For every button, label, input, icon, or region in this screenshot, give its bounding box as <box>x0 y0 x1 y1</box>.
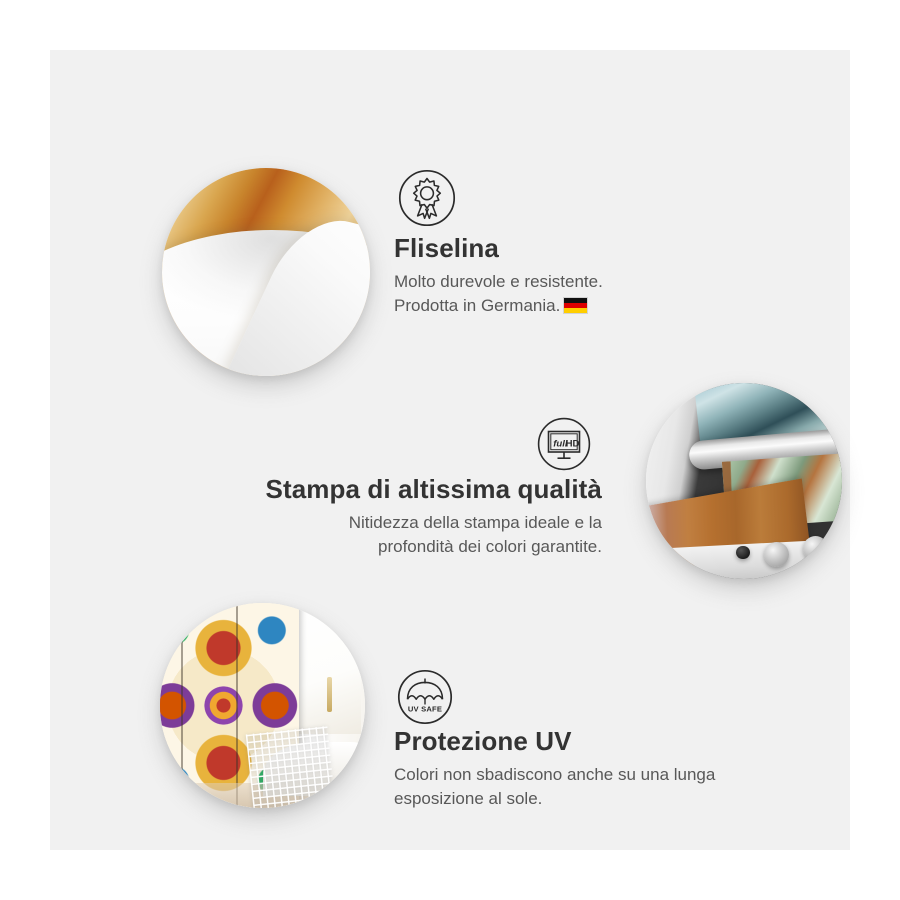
content-panel: Fliselina Molto durevole e resistente. P… <box>50 50 850 850</box>
printer-photo-inner <box>646 383 842 579</box>
large-format-printer-photo <box>646 383 842 579</box>
room-photo-inner <box>160 603 365 808</box>
feature-title-print-quality: Stampa di altissima qualità <box>260 474 602 505</box>
feature-title-fliselina: Fliselina <box>394 233 814 264</box>
printer-knob-large <box>764 542 789 567</box>
full-hd-label-regular: HD <box>566 438 580 449</box>
feature-block-fliselina: Fliselina Molto durevole e resistente. P… <box>394 233 814 319</box>
full-hd-monitor-icon: full HD <box>537 417 591 471</box>
uv-safe-umbrella-icon: UV SAFE <box>397 669 453 725</box>
peeling-wallpaper-roll-photo <box>162 168 370 376</box>
wallpaper-photo-inner <box>162 168 370 376</box>
candlestick <box>327 677 332 712</box>
printer-knob-small <box>736 546 750 560</box>
germany-flag-icon <box>564 298 587 313</box>
wire-chair <box>246 726 337 808</box>
feature-block-print-quality: Stampa di altissima qualità Nitidezza de… <box>260 474 602 560</box>
feature-description-print-quality: Nitidezza della stampa ideale e la profo… <box>260 511 602 560</box>
feature-block-uv-protection: Protezione UV Colori non sbadiscono anch… <box>394 726 824 812</box>
award-rosette-icon <box>398 169 456 227</box>
mandala-wallpaper-room-photo <box>160 603 365 808</box>
feature-description-uv-protection: Colori non sbadiscono anche su una lunga… <box>394 763 824 812</box>
room-window <box>291 607 361 734</box>
wallpaper-seam-left <box>181 603 183 808</box>
uv-safe-label: UV SAFE <box>408 704 442 713</box>
feature-description-fliselina: Molto durevole e resistente. Prodotta in… <box>394 270 814 319</box>
feature-title-uv-protection: Protezione UV <box>394 726 824 757</box>
infographic-page: Fliselina Molto durevole e resistente. P… <box>0 0 900 900</box>
wallpaper-seam-right <box>236 603 238 808</box>
